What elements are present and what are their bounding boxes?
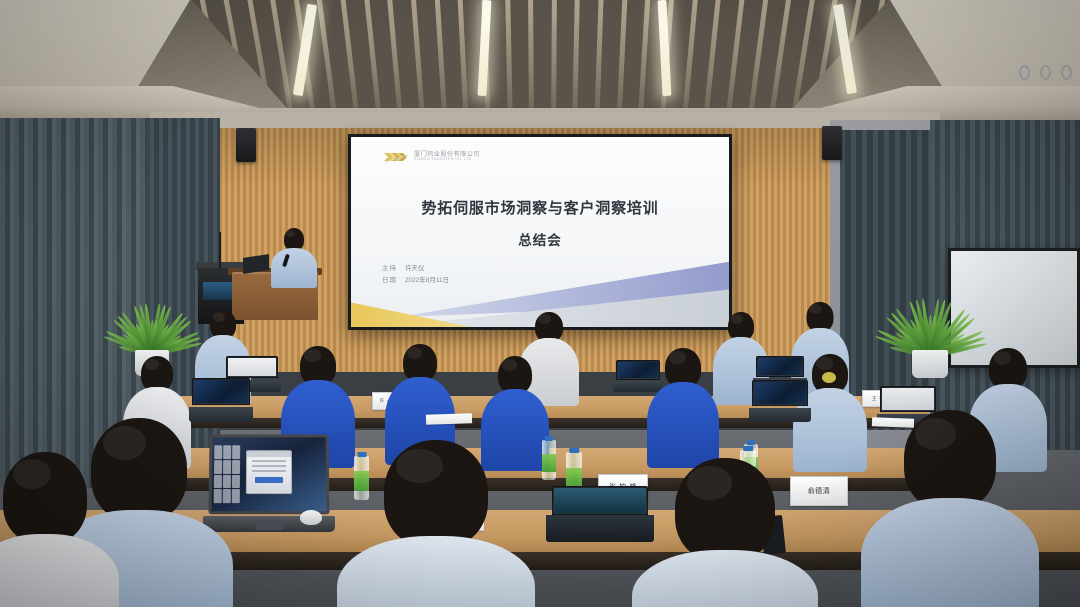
ceiling-slat — [528, 0, 534, 116]
ceiling-slat — [638, 0, 651, 116]
hair-tie — [822, 372, 836, 383]
attendee-mid-5 — [646, 348, 720, 464]
ceiling-slat — [616, 0, 627, 116]
slide-meta-host: 主持 许天仪 — [382, 263, 449, 275]
ceiling-slat — [682, 0, 699, 116]
bottle-cap — [569, 448, 579, 453]
foreground-attendee-far-right — [860, 410, 1040, 607]
ceiling-slat — [245, 0, 272, 115]
bottle-cap — [743, 446, 753, 451]
presenter-body — [271, 248, 317, 288]
bottle-cap — [545, 436, 553, 441]
attendee-body — [337, 536, 535, 607]
foreground-attendee-center — [336, 440, 536, 607]
slide-title: 势拓伺服市场洞察与客户洞察培训 — [351, 197, 729, 218]
slide-subtitle: 总结会 — [351, 229, 729, 249]
company-name-en: XIAMEN TUNGSTEN CO.,LTD. — [414, 158, 480, 162]
laptop-screen — [882, 388, 934, 410]
slide-meta-host-label: 主持 — [382, 265, 397, 272]
ceiling-slat — [268, 0, 293, 115]
ceiling-slat — [551, 0, 557, 116]
bottle-label — [542, 454, 556, 472]
ceiling-slat — [726, 0, 746, 115]
attendee-body — [861, 498, 1039, 607]
foreground-attendee-right — [630, 458, 820, 607]
ceiling-speaker-left — [236, 128, 256, 162]
attendee-body — [647, 382, 719, 468]
laptop-lid — [192, 378, 250, 405]
attendee-head — [904, 410, 996, 510]
ceiling-slat — [315, 0, 337, 115]
laptop-mid-1[interactable] — [192, 378, 250, 422]
attendee-head — [675, 458, 775, 562]
dialog-text-line — [252, 460, 286, 462]
slide-meta-host-value: 许天仪 — [405, 265, 425, 272]
tungsten-chevron-logo-icon — [383, 151, 409, 163]
ceiling-slat — [505, 0, 513, 116]
laptop-screen — [754, 382, 806, 404]
computer-mouse[interactable] — [300, 510, 322, 525]
ceiling-slat — [704, 0, 722, 116]
attendee-head — [3, 452, 87, 544]
ceiling-slat — [573, 0, 581, 116]
ceiling-slat — [457, 0, 468, 116]
ceiling-baffle-panel — [130, 0, 950, 116]
ceiling-slat — [791, 0, 816, 115]
laptop-lid — [752, 380, 808, 406]
bottle-cap — [747, 440, 755, 445]
presentation-slide: 厦门钨业股份有限公司 XIAMEN TUNGSTEN CO.,LTD. 势拓伺服… — [351, 137, 729, 327]
ceiling-slat — [386, 0, 403, 116]
foreground-attendee-far-left — [0, 452, 120, 607]
ceiling-slat — [221, 0, 250, 114]
plant-pot-right — [912, 350, 948, 378]
curtain-ring-icon — [1061, 65, 1072, 80]
curtain-ring-icon — [1040, 65, 1051, 80]
company-logo-text: 厦门钨业股份有限公司 XIAMEN TUNGSTEN CO.,LTD. — [414, 152, 480, 162]
ceiling-slat — [434, 0, 447, 116]
dialog-primary-button[interactable] — [255, 477, 283, 483]
curtain-ring-icon — [1019, 65, 1030, 80]
foreground-laptop-trackpad[interactable] — [255, 520, 283, 530]
laptop-lid — [880, 386, 936, 412]
plant-right — [880, 258, 980, 378]
ceiling-slat — [339, 0, 359, 115]
ceiling-slat — [769, 0, 793, 115]
curtain-rings — [1002, 60, 1072, 84]
laptop-screen — [228, 358, 276, 376]
laptop-base — [749, 408, 812, 422]
presenter — [268, 228, 320, 284]
laptop-lid — [226, 356, 278, 378]
document-mid-1 — [426, 413, 472, 425]
slide-meta: 主持 许天仪 日期 2022年8月11日 — [382, 263, 449, 288]
slide-meta-date-value: 2022年8月11日 — [405, 277, 449, 284]
ceiling-slat — [410, 0, 425, 116]
dialog-text-line — [252, 465, 286, 467]
attendee-body — [0, 534, 119, 607]
ceiling-slat — [748, 0, 770, 115]
ceiling-slat — [595, 0, 604, 116]
dialog-titlebar — [247, 451, 291, 457]
slide-watermark: www.cxtc.com — [671, 315, 707, 320]
desktop-dialog-window[interactable] — [246, 450, 292, 494]
ceiling-speaker-right — [822, 126, 842, 160]
slide-meta-date: 日期 2022年8月11日 — [382, 275, 449, 287]
wall-upper-trim — [150, 112, 940, 128]
meeting-room-photo: 厦门钨业股份有限公司 XIAMEN TUNGSTEN CO.,LTD. 势拓伺服… — [0, 0, 1080, 607]
attendee-body — [632, 550, 818, 607]
ceiling-slat — [363, 0, 381, 116]
water-bottle-mid-1 — [542, 440, 556, 480]
laptop-screen — [194, 380, 248, 403]
dialog-text-line — [252, 470, 286, 472]
microphone-stand — [219, 232, 221, 268]
projection-screen: 厦门钨业股份有限公司 XIAMEN TUNGSTEN CO.,LTD. 势拓伺服… — [348, 134, 732, 330]
attendee-head — [384, 440, 488, 548]
laptop-mid-2[interactable] — [752, 380, 808, 422]
company-logo: 厦门钨业股份有限公司 XIAMEN TUNGSTEN CO.,LTD. — [383, 151, 480, 163]
slide-meta-date-label: 日期 — [382, 277, 397, 284]
